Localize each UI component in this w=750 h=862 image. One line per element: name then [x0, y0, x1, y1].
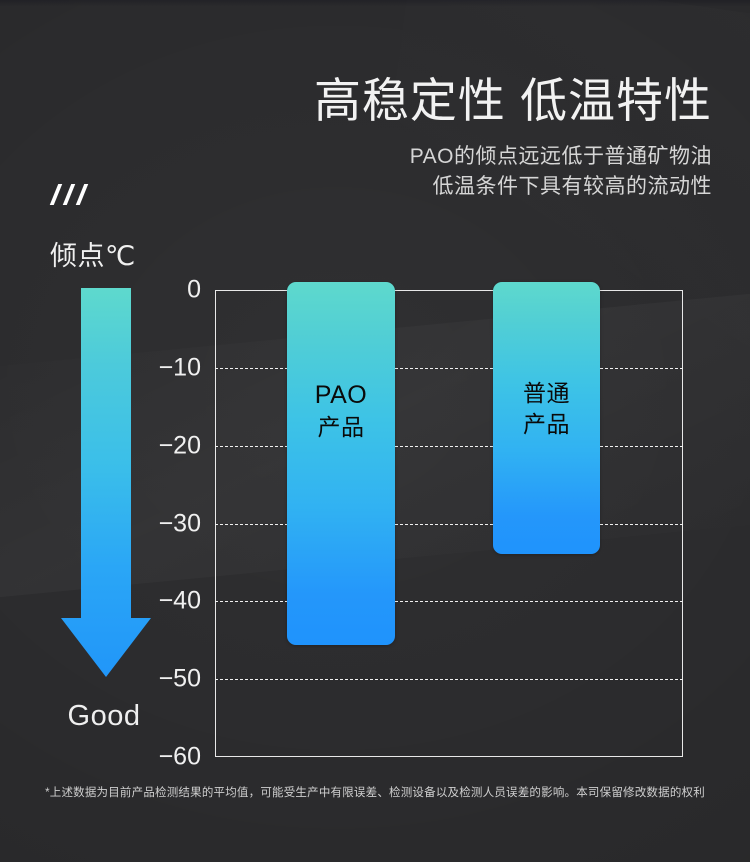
bar-label-pao-line2: 产品 [287, 412, 395, 443]
header-block: 高稳定性 低温特性 PAO的倾点远远低于普通矿物油 低温条件下具有较高的流动性 [0, 0, 750, 202]
ytick-label-0: 0 [111, 276, 201, 305]
bar-label-pao-line1: PAO [287, 378, 395, 412]
bar-label-ordinary: 普通 产品 [493, 378, 600, 441]
gridline--10 [215, 368, 683, 369]
ytick-label--30: −30 [111, 509, 201, 538]
bar-label-pao: PAO 产品 [287, 378, 395, 443]
bar-label-ordinary-line1: 普通 [493, 378, 600, 409]
gridline--20 [215, 446, 683, 447]
footnote-text: *上述数据为目前产品检测结果的平均值，可能受生产中有限误差、检测设备以及检测人员… [0, 784, 750, 800]
page-title: 高稳定性 低温特性 [0, 0, 712, 128]
bar-pao[interactable]: PAO 产品 [287, 282, 395, 645]
ytick-label--50: −50 [111, 665, 201, 694]
slash-stroke-1 [50, 184, 62, 205]
y-axis-title: 倾点℃ [50, 234, 136, 273]
slash-decoration-icon [50, 182, 120, 208]
promo-page: 高稳定性 低温特性 PAO的倾点远远低于普通矿物油 低温条件下具有较高的流动性 … [0, 0, 750, 862]
ytick-label--40: −40 [111, 587, 201, 616]
bar-label-ordinary-line2: 产品 [493, 409, 600, 440]
subtitle-line-1: PAO的倾点远远低于普通矿物油 [0, 142, 712, 172]
ytick-label--60: −60 [111, 743, 201, 772]
slash-stroke-3 [76, 184, 88, 205]
down-arrow-icon [60, 288, 152, 678]
ytick-label--20: −20 [111, 431, 201, 460]
gridline--30 [215, 524, 683, 525]
gridline--50 [215, 679, 683, 680]
slash-stroke-2 [63, 184, 75, 205]
gridline--40 [215, 601, 683, 602]
bar-ordinary[interactable]: 普通 产品 [493, 282, 600, 554]
good-label: Good [24, 700, 184, 733]
pour-point-bar-chart: 0 −10 −20 −30 −40 −50 −60 PAO 产品 普通 产品 [215, 290, 683, 757]
ytick-label--10: −10 [111, 353, 201, 382]
